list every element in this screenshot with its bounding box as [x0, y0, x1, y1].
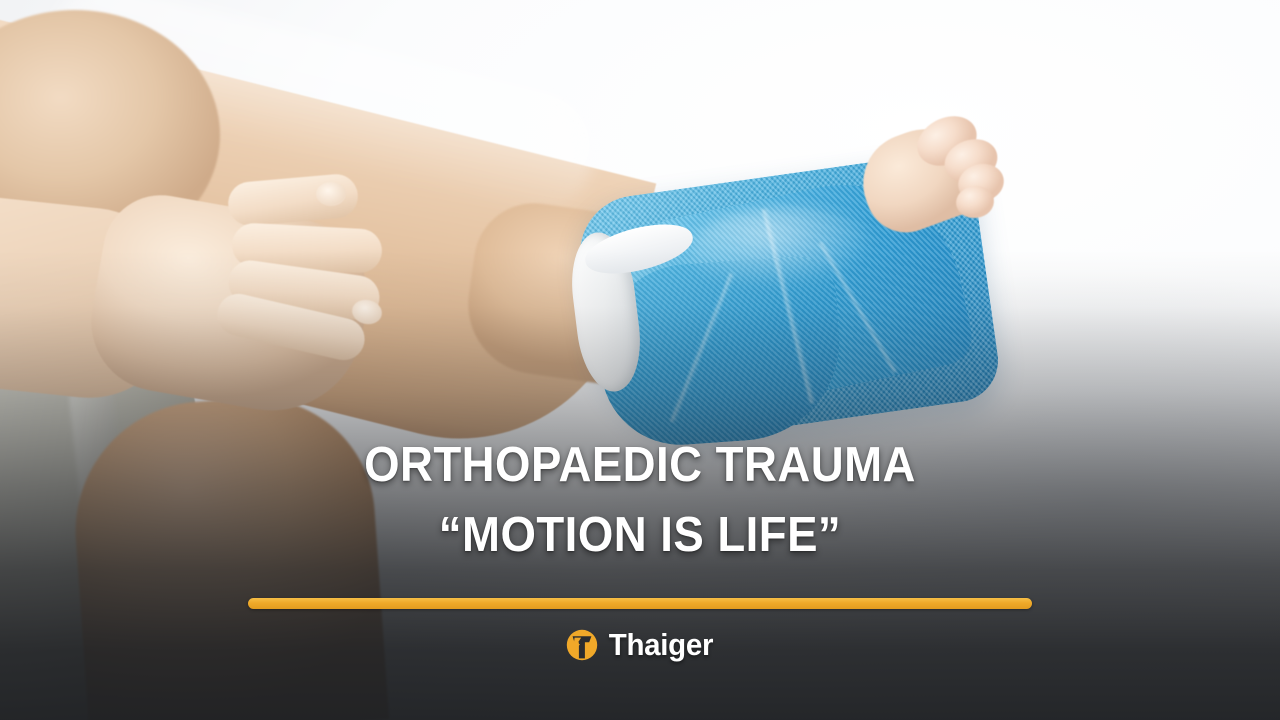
- caption-block: ORTHOPAEDIC TRAUMA “MOTION IS LIFE”: [0, 436, 1280, 564]
- fingernail: [316, 182, 346, 206]
- brand-lockup[interactable]: Thaiger: [0, 627, 1280, 663]
- thaiger-t-circle-icon: [565, 628, 599, 662]
- gold-rule: [248, 598, 1032, 609]
- brand-name: Thaiger: [608, 627, 712, 663]
- headline-line-2: “MOTION IS LIFE”: [45, 506, 1235, 564]
- headline-line-1: ORTHOPAEDIC TRAUMA: [45, 436, 1235, 494]
- divider-wrap: [0, 598, 1280, 609]
- hero-banner: ORTHOPAEDIC TRAUMA “MOTION IS LIFE” Thai…: [0, 0, 1280, 720]
